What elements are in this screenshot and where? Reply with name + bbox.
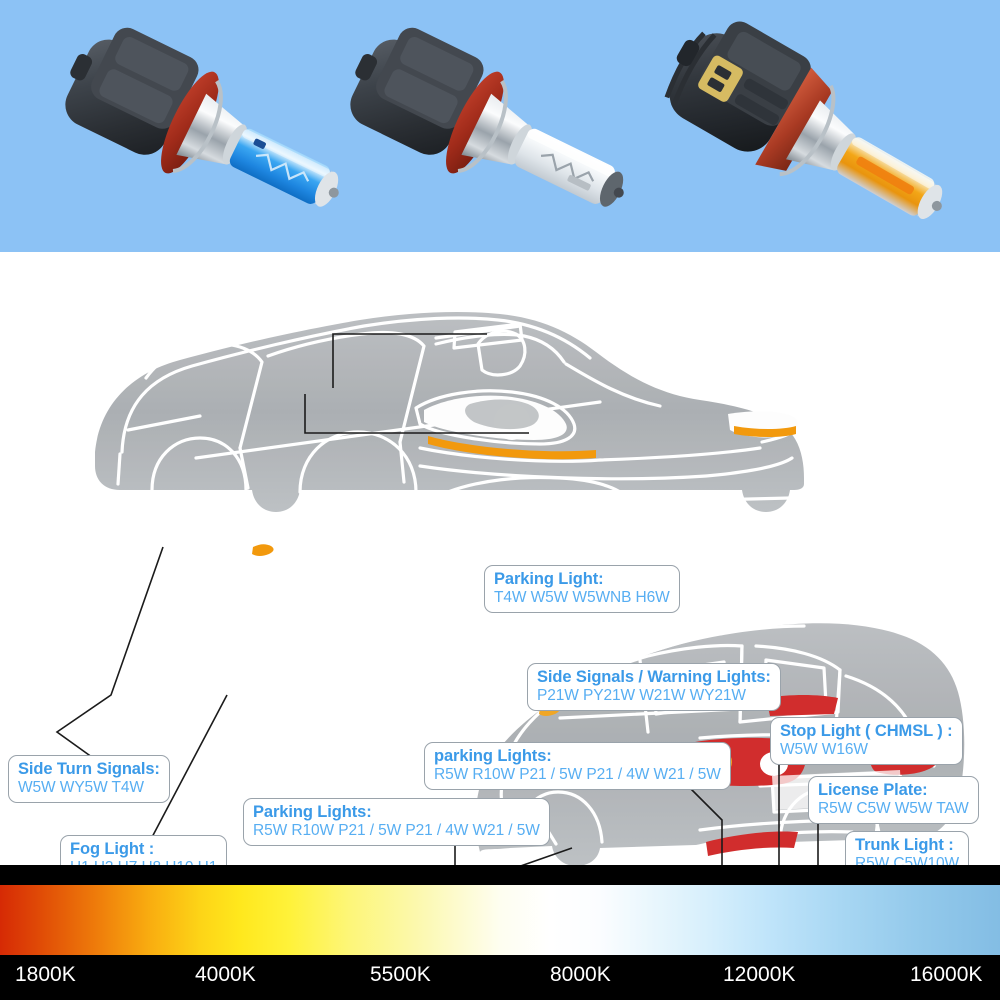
bulb-yellow-image: [650, 15, 990, 245]
callout-detail: R5W R10W P21 / 5W P21 / 4W W21 / 5W: [253, 822, 540, 839]
callout-detail: T4W W5W W5WNB H6W: [494, 589, 670, 606]
callout-title: Parking Light:: [494, 570, 670, 588]
callout-title: Stop Light ( CHMSL ) :: [780, 722, 953, 740]
callout-fog-light[interactable]: Fog Light : H1 H3 H7 H8 H10 H1: [60, 835, 227, 865]
kelvin-tick-5500: 5500K: [370, 963, 431, 987]
callout-detail: R5W C5W10W: [855, 855, 959, 865]
kelvin-tick-12000: 12000K: [723, 963, 795, 987]
bulb-clear-image: [330, 15, 670, 245]
callout-parking-lights-left[interactable]: Parking Lights: R5W R10W P21 / 5W P21 / …: [243, 798, 550, 846]
callout-side-signals-warning-front[interactable]: Side Signals / Warning Lights: P21W PY21…: [527, 663, 781, 711]
callout-title: Trunk Light :: [855, 836, 959, 854]
callout-detail: W5W W16W: [780, 741, 953, 758]
callout-title: parking Lights:: [434, 747, 721, 765]
vehicle-bulb-location-diagram: Parking Light: T4W W5W W5WNB H6W Side Si…: [0, 252, 1000, 865]
callout-parking-light-front[interactable]: Parking Light: T4W W5W W5WNB H6W: [484, 565, 680, 613]
kelvin-tick-16000: 16000K: [910, 963, 982, 987]
callout-title: Side Signals / Warning Lights:: [537, 668, 771, 686]
callout-detail: R5W R10W P21 / 5W P21 / 4W W21 / 5W: [434, 766, 721, 783]
callout-side-turn-signals[interactable]: Side Turn Signals: W5W WY5W T4W: [8, 755, 170, 803]
callout-title: Side Turn Signals:: [18, 760, 160, 778]
product-photo-banner: [0, 0, 1000, 252]
kelvin-tick-4000: 4000K: [195, 963, 256, 987]
callout-detail: P21W PY21W W21W WY21W: [537, 687, 771, 704]
callout-license-plate[interactable]: License Plate: R5W C5W W5W TAW: [808, 776, 979, 824]
callout-trunk-light[interactable]: Trunk Light : R5W C5W10W: [845, 831, 969, 865]
side-repeater: [252, 544, 274, 556]
callout-title: License Plate:: [818, 781, 969, 799]
callout-detail: W5W WY5W T4W: [18, 779, 160, 796]
color-temperature-tick-labels: 1800K 4000K 5500K 8000K 12000K 16000K: [0, 955, 1000, 1000]
color-temperature-gradient-bar: [0, 885, 1000, 955]
callout-detail: R5W C5W W5W TAW: [818, 800, 969, 817]
callout-title: Fog Light :: [70, 840, 217, 858]
color-temperature-scale: 1800K 4000K 5500K 8000K 12000K 16000K: [0, 865, 1000, 1000]
callout-stop-light-chmsl[interactable]: Stop Light ( CHMSL ) : W5W W16W: [770, 717, 963, 765]
kelvin-tick-8000: 8000K: [550, 963, 611, 987]
callout-parking-lights-lower[interactable]: parking Lights: R5W R10W P21 / 5W P21 / …: [424, 742, 731, 790]
kelvin-tick-1800: 1800K: [15, 963, 76, 987]
fog-light-lens: [253, 673, 331, 705]
callout-title: Parking Lights:: [253, 803, 540, 821]
bulb-reference-infographic: Parking Light: T4W W5W W5WNB H6W Side Si…: [0, 0, 1000, 1000]
callout-detail: H1 H3 H7 H8 H10 H1: [70, 859, 217, 865]
